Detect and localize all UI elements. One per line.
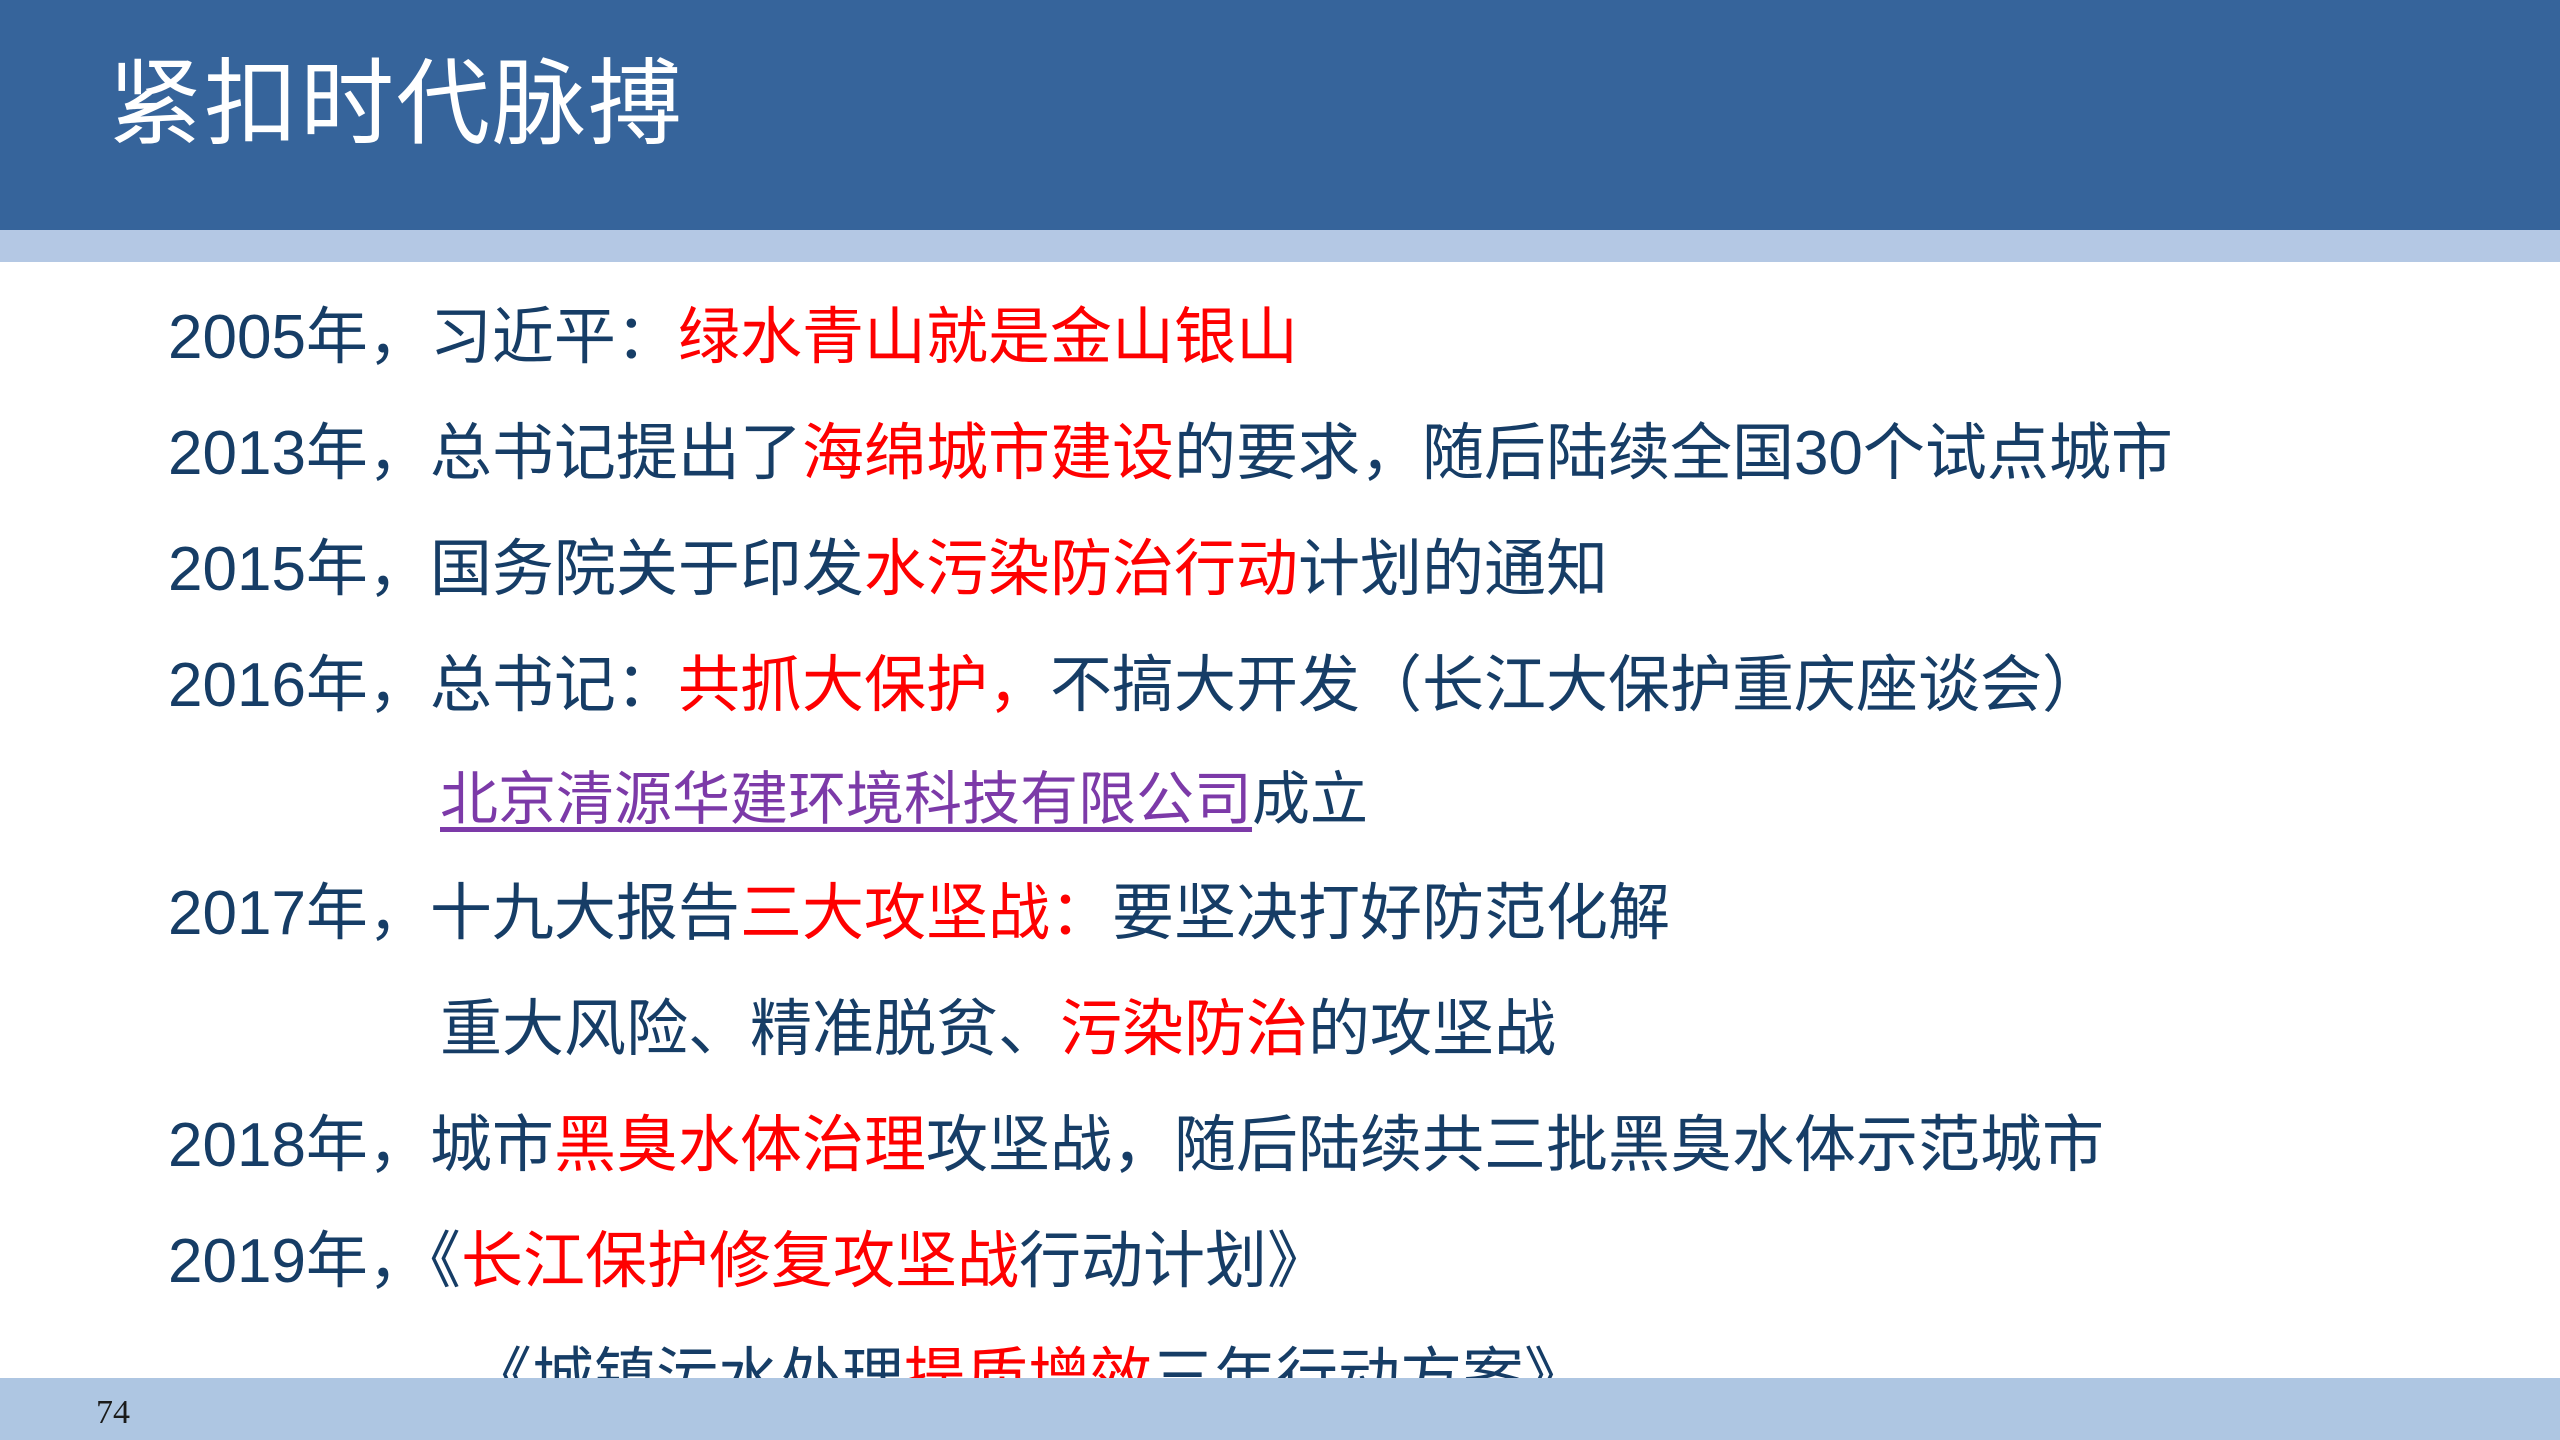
content-lines: 2005年，习近平：绿水青山就是金山银山2013年，总书记提出了海绵城市建设的要… (0, 280, 2560, 1436)
line-2019: 2019年，《长江保护修复攻坚战行动计划》 (0, 1204, 2560, 1320)
line-2013-segment-2: 的要求，随后陆续全国30个试点城市 (1174, 419, 2173, 488)
line-company-segment-1: 成立 (1252, 767, 1368, 832)
line-2016-segment-1: 共抓大保护， (678, 651, 1050, 720)
line-2018: 2018年，城市黑臭水体治理攻坚战，随后陆续共三批黑臭水体示范城市 (0, 1088, 2560, 1204)
line-2013: 2013年，总书记提出了海绵城市建设的要求，随后陆续全国30个试点城市 (0, 396, 2560, 512)
header-accent-bar (0, 230, 2560, 262)
line-2005-segment-0: 2005年，习近平： (168, 303, 678, 372)
line-2018-segment-1: 黑臭水体治理 (554, 1111, 926, 1180)
line-2013-segment-0: 2013年，总书记提出了 (168, 419, 802, 488)
line-2005-segment-1: 绿水青山就是金山银山 (678, 303, 1298, 372)
line-2017-cont-segment-2: 的攻坚战 (1308, 995, 1556, 1064)
line-2019-segment-0: 2019年，《 (168, 1227, 461, 1296)
line-2017-segment-0: 2017年，十九大报告 (168, 879, 740, 948)
line-2017-segment-1: 三大攻坚战： (740, 879, 1112, 948)
line-2018-segment-0: 2018年，城市 (168, 1111, 554, 1180)
slide: 紧扣时代脉搏 2005年，习近平：绿水青山就是金山银山2013年，总书记提出了海… (0, 0, 2560, 1440)
line-company: 北京清源华建环境科技有限公司成立 (0, 744, 2560, 856)
line-2018-segment-2: 攻坚战，随后陆续共三批黑臭水体示范城市 (926, 1111, 2104, 1180)
slide-body: 2005年，习近平：绿水青山就是金山银山2013年，总书记提出了海绵城市建设的要… (0, 262, 2560, 1380)
line-2019-segment-2: 行动计划》 (1019, 1227, 1329, 1296)
line-2015: 2015年，国务院关于印发水污染防治行动计划的通知 (0, 512, 2560, 628)
company-hyperlink[interactable]: 北京清源华建环境科技有限公司 (440, 767, 1252, 832)
line-2013-segment-1: 海绵城市建设 (802, 419, 1174, 488)
page-number: 74 (96, 1394, 130, 1432)
line-2015-segment-0: 2015年，国务院关于印发 (168, 535, 864, 604)
line-2016-segment-2: 不搞大开发（长江大保护重庆座谈会） (1050, 651, 2104, 720)
line-2015-segment-1: 水污染防治行动 (864, 535, 1298, 604)
line-2017-cont: 重大风险、精准脱贫、污染防治的攻坚战 (0, 972, 2560, 1088)
line-2016: 2016年，总书记：共抓大保护，不搞大开发（长江大保护重庆座谈会） (0, 628, 2560, 744)
line-2017-cont-segment-1: 污染防治 (1060, 995, 1308, 1064)
line-2017-cont-segment-0: 重大风险、精准脱贫、 (440, 995, 1060, 1064)
line-2017: 2017年，十九大报告三大攻坚战：要坚决打好防范化解 (0, 856, 2560, 972)
page-title: 紧扣时代脉搏 (108, 52, 684, 155)
line-2019-segment-1: 长江保护修复攻坚战 (461, 1227, 1019, 1296)
line-2015-segment-2: 计划的通知 (1298, 535, 1608, 604)
line-2017-segment-2: 要坚决打好防范化解 (1112, 879, 1670, 948)
line-2016-segment-0: 2016年，总书记： (168, 651, 678, 720)
footer-band (0, 1378, 2560, 1440)
line-2005: 2005年，习近平：绿水青山就是金山银山 (0, 280, 2560, 396)
